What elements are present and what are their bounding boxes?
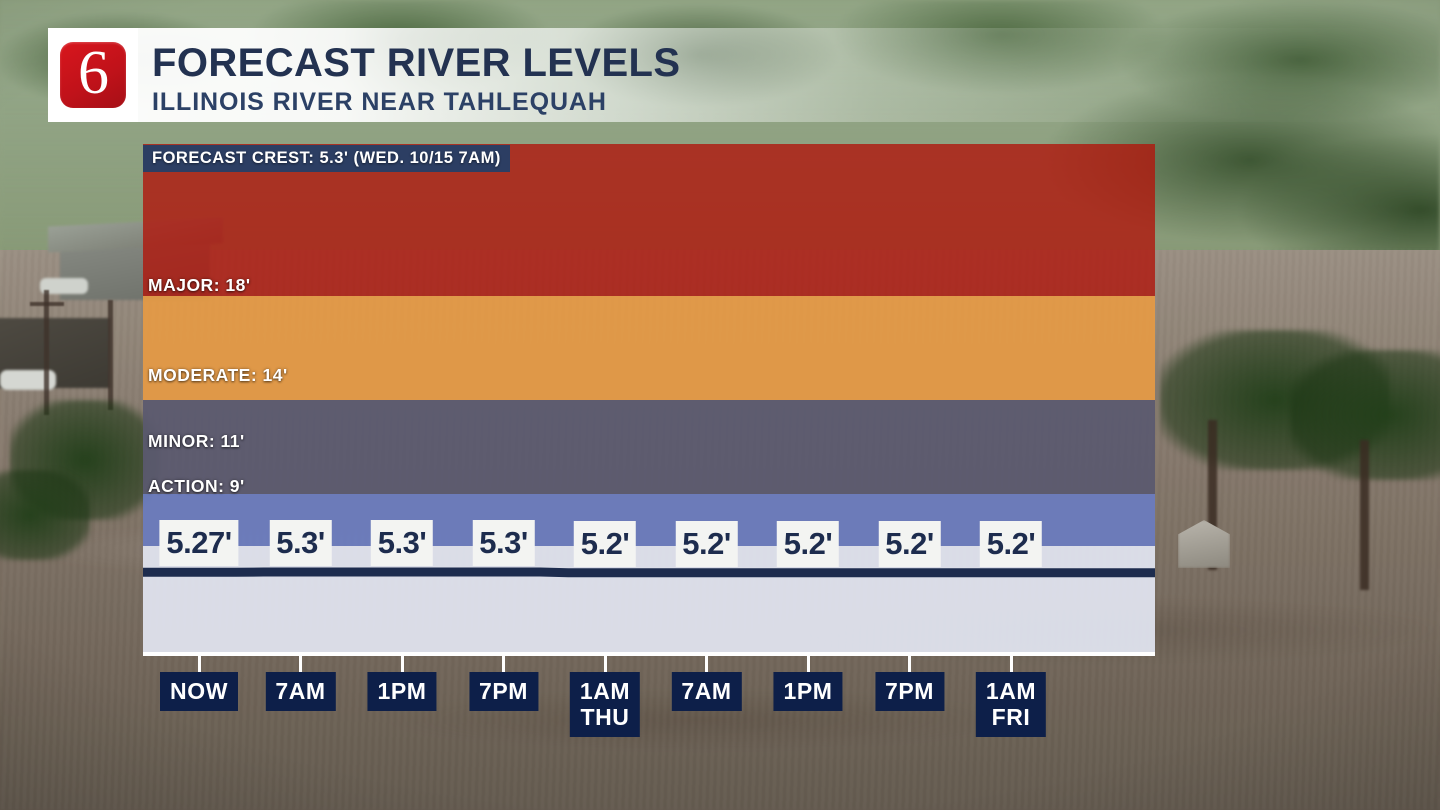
forecast-crest-banner: FORECAST CREST: 5.3' (WED. 10/15 7AM) xyxy=(143,145,510,172)
chart-baseline xyxy=(143,652,1155,656)
time-axis-label: NOW xyxy=(160,672,238,711)
time-axis-label-line1: 7PM xyxy=(885,678,934,704)
axis-tick xyxy=(705,656,708,672)
axis-tick xyxy=(807,656,810,672)
page-title: FORECAST RIVER LEVELS xyxy=(152,41,680,85)
time-axis-label-line1: 7AM xyxy=(681,678,731,704)
time-axis-label: 7AM xyxy=(671,672,741,711)
time-axis-label-line1: 1PM xyxy=(783,678,832,704)
axis-tick xyxy=(1010,656,1013,672)
time-axis-label: 1AMFRI xyxy=(976,672,1046,737)
channel-6-logo-icon: 6 xyxy=(60,42,126,108)
time-axis-label-line1: 1AM xyxy=(580,678,630,704)
axis-tick xyxy=(198,656,201,672)
time-axis-label-line1: 1PM xyxy=(377,678,426,704)
time-axis-label: 7PM xyxy=(875,672,944,711)
axis-tick xyxy=(299,656,302,672)
time-axis-label-line1: 7PM xyxy=(479,678,528,704)
value-chip: 5.2' xyxy=(878,521,940,567)
value-chip: 5.3' xyxy=(371,520,433,566)
value-chip: 5.27' xyxy=(159,520,238,566)
axis-tick xyxy=(604,656,607,672)
forecast-crest-text: FORECAST CREST: 5.3' (WED. 10/15 7AM) xyxy=(152,149,501,168)
header-banner: 6 FORECAST RIVER LEVELS ILLINOIS RIVER N… xyxy=(48,28,1386,122)
page-subtitle: ILLINOIS RIVER NEAR TAHLEQUAH xyxy=(152,87,680,117)
time-axis-label: 1PM xyxy=(773,672,842,711)
time-axis-label: 1PM xyxy=(367,672,436,711)
value-chip: 5.3' xyxy=(269,520,331,566)
value-chip: 5.2' xyxy=(574,521,636,567)
value-chip-group: 5.27'5.3'5.3'5.3'5.2'5.2'5.2'5.2'5.2' xyxy=(143,144,1155,652)
time-axis-label: 7PM xyxy=(469,672,538,711)
value-chip: 5.2' xyxy=(675,521,737,567)
header-text-group: FORECAST RIVER LEVELS ILLINOIS RIVER NEA… xyxy=(152,41,680,117)
axis-tick xyxy=(401,656,404,672)
logo-digit: 6 xyxy=(78,44,108,102)
station-logo: 6 xyxy=(48,28,138,122)
time-axis-label-line1: 7AM xyxy=(275,678,325,704)
value-chip: 5.2' xyxy=(980,521,1042,567)
axis-tick xyxy=(502,656,505,672)
value-chip: 5.2' xyxy=(777,521,839,567)
time-axis-label-line1: 1AM xyxy=(986,678,1036,704)
time-axis-label-line2: FRI xyxy=(986,704,1036,730)
axis-tick xyxy=(908,656,911,672)
time-axis-label: 1AMTHU xyxy=(570,672,640,737)
time-axis-label-line1: NOW xyxy=(170,678,228,704)
time-axis-label: 7AM xyxy=(265,672,335,711)
river-level-chart: MAJOR: 18' MODERATE: 14' MINOR: 11' ACTI… xyxy=(143,144,1155,652)
value-chip: 5.3' xyxy=(472,520,534,566)
time-axis-label-line2: THU xyxy=(580,704,630,730)
